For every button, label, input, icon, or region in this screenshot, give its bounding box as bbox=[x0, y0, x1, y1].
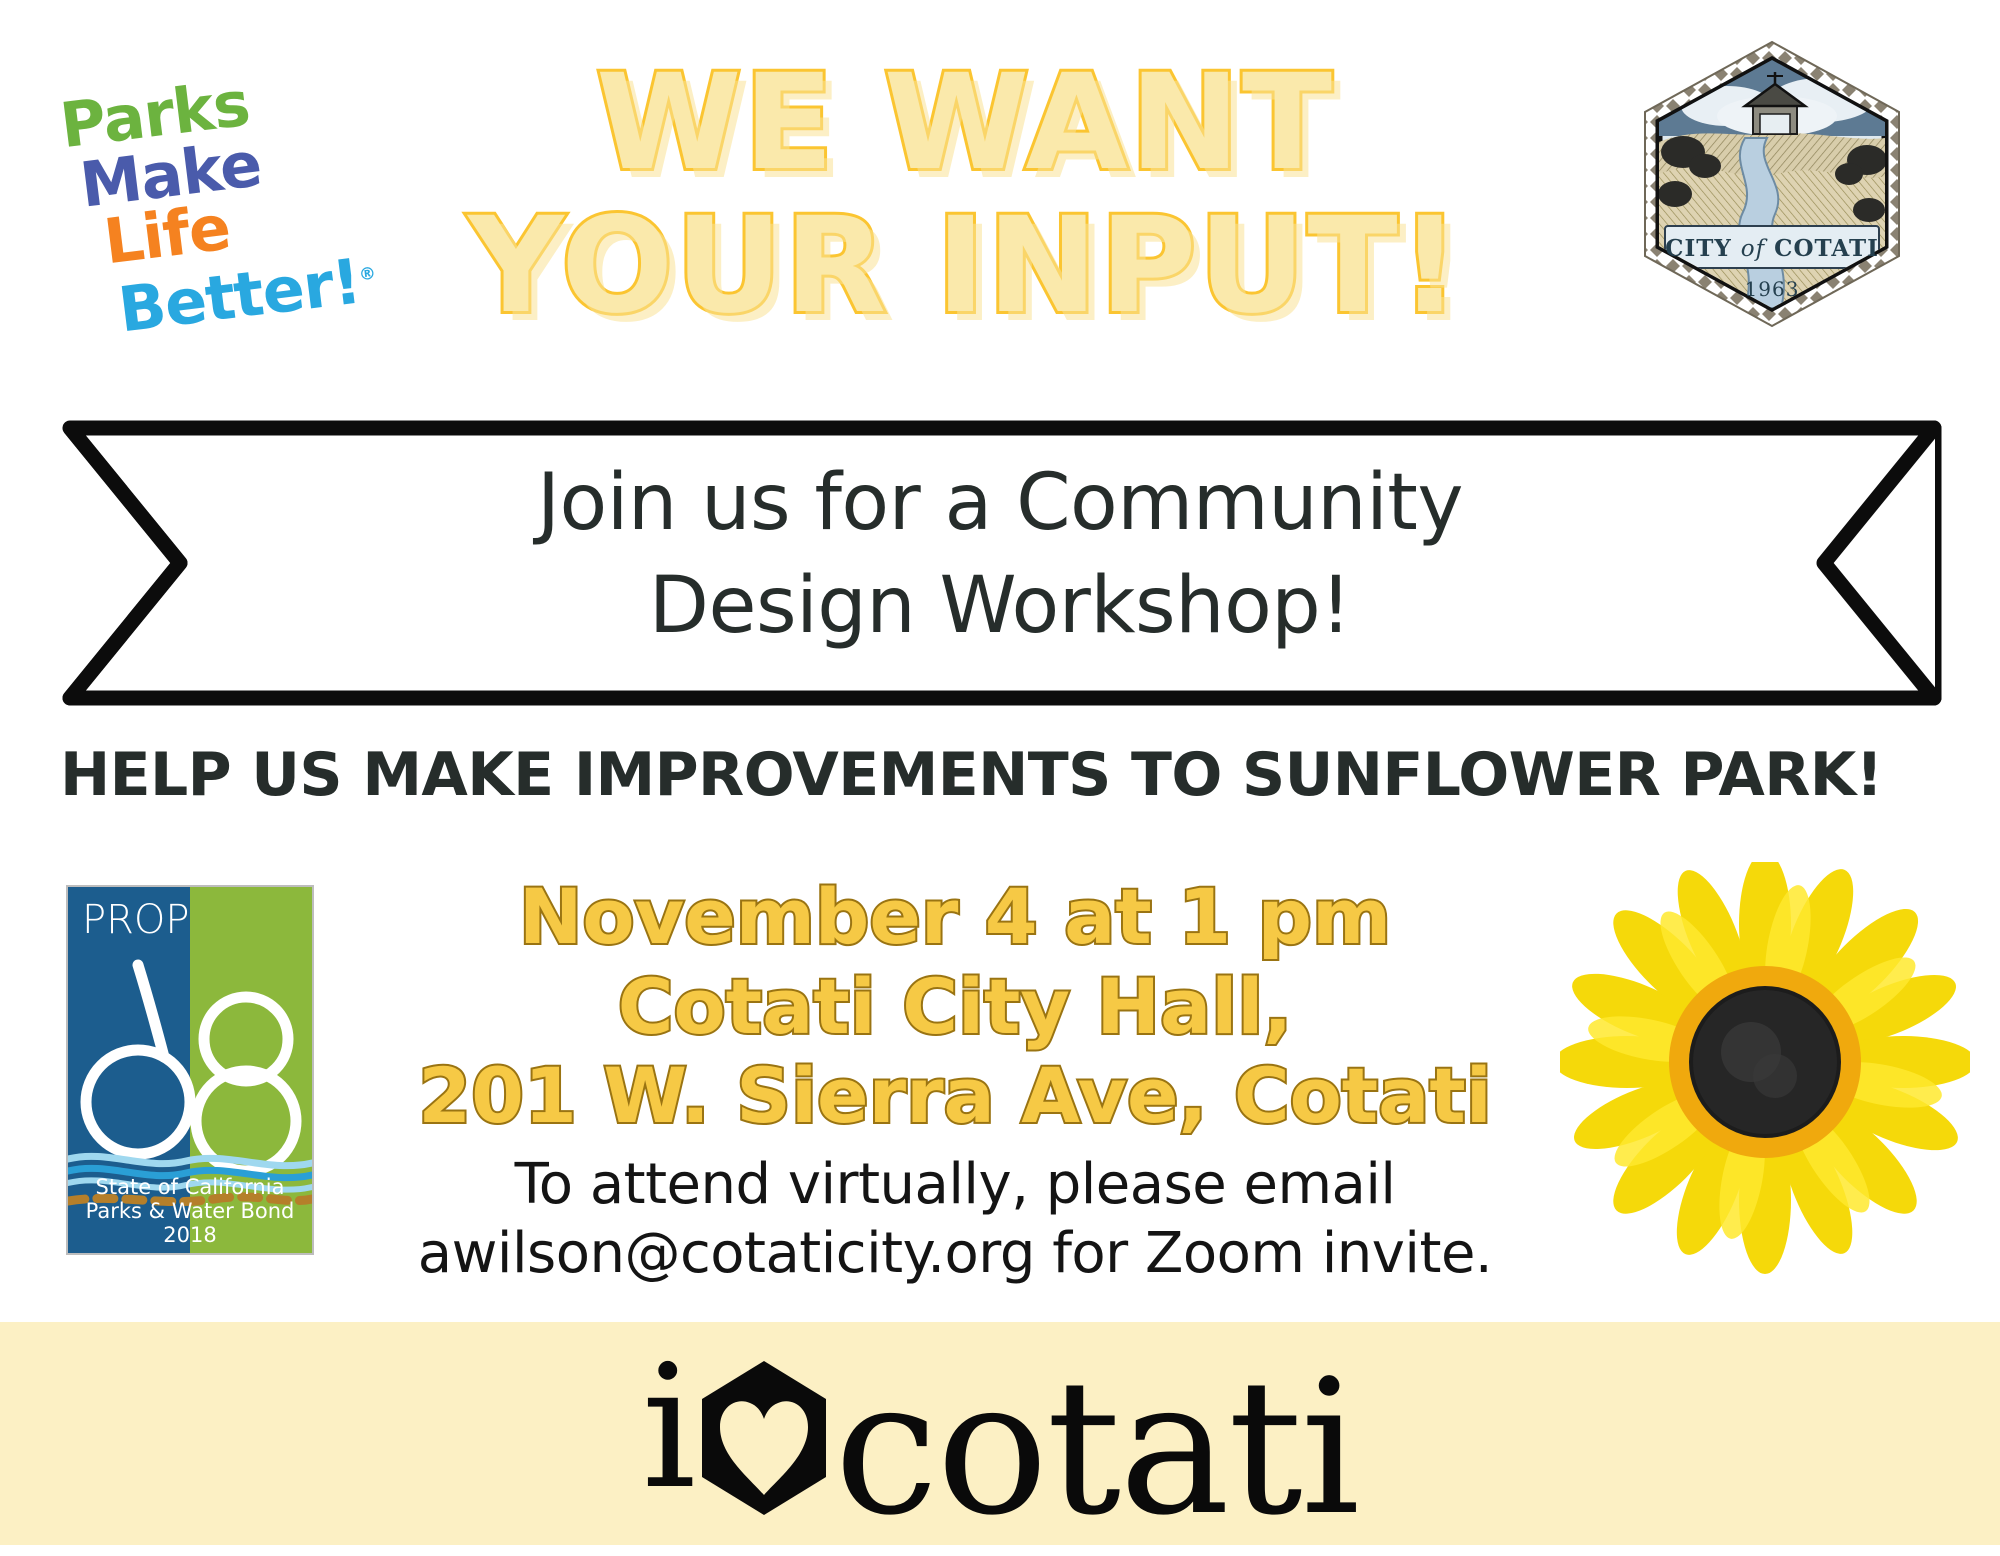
virtual-line-1: To attend virtually, please email bbox=[340, 1150, 1570, 1219]
ribbon-line-1: Join us for a Community bbox=[300, 452, 1700, 555]
ribbon-text: Join us for a Community Design Workshop! bbox=[300, 452, 1700, 658]
heart-icon bbox=[698, 1359, 830, 1517]
parks-make-life-better-logo: Parks Make Life Better!® bbox=[52, 62, 362, 322]
prop-68-logo: PROP State of California Parks & Water B… bbox=[66, 885, 314, 1255]
i-love-cotati-logo: i cotati bbox=[0, 1322, 2000, 1545]
city-seal-icon: CITY of COTATI 1963 bbox=[1617, 34, 1927, 334]
letter-i: i bbox=[642, 1343, 696, 1513]
prop68-prop-word: PROP bbox=[82, 897, 190, 943]
event-venue: Cotati City Hall, bbox=[340, 962, 1570, 1052]
seal-year-text: 1963 bbox=[1745, 277, 1800, 301]
virtual-line-2: awilson@cotaticity.org for Zoom invite. bbox=[340, 1219, 1570, 1288]
registered-trademark-icon: ® bbox=[358, 264, 376, 286]
flyer-canvas: Parks Make Life Better!® WE WANT YOUR IN… bbox=[0, 0, 2000, 1545]
prop68-footer: State of California Parks & Water Bond 2… bbox=[68, 1175, 312, 1247]
sunflower-illustration bbox=[1560, 862, 1970, 1277]
subheadline: HELP US MAKE IMPROVEMENTS TO SUNFLOWER P… bbox=[60, 740, 1960, 810]
page-title: WE WANT YOUR INPUT! bbox=[400, 52, 1530, 337]
headline-line-1: WE WANT bbox=[400, 52, 1530, 195]
virtual-attendance-note: To attend virtually, please email awilso… bbox=[340, 1150, 1570, 1289]
subheadline-text: HELP US MAKE IMPROVEMENTS TO SUNFLOWER P… bbox=[60, 740, 1882, 810]
prop68-footer-line-2: Parks & Water Bond 2018 bbox=[68, 1199, 312, 1247]
footer-word-cotati: cotati bbox=[834, 1355, 1358, 1541]
prop68-footer-line-1: State of California bbox=[68, 1175, 312, 1199]
ribbon-line-2: Design Workshop! bbox=[300, 555, 1700, 658]
seal-banner-text: CITY of COTATI bbox=[1665, 235, 1879, 262]
city-of-cotati-seal: CITY of COTATI 1963 bbox=[1617, 34, 1927, 334]
headline-line-2: YOUR INPUT! bbox=[400, 195, 1530, 338]
event-details: November 4 at 1 pm Cotati City Hall, 201… bbox=[340, 872, 1570, 1141]
sunflower-icon bbox=[1560, 862, 1970, 1277]
event-address: 201 W. Sierra Ave, Cotati bbox=[340, 1051, 1570, 1141]
event-date-time: November 4 at 1 pm bbox=[340, 872, 1570, 962]
